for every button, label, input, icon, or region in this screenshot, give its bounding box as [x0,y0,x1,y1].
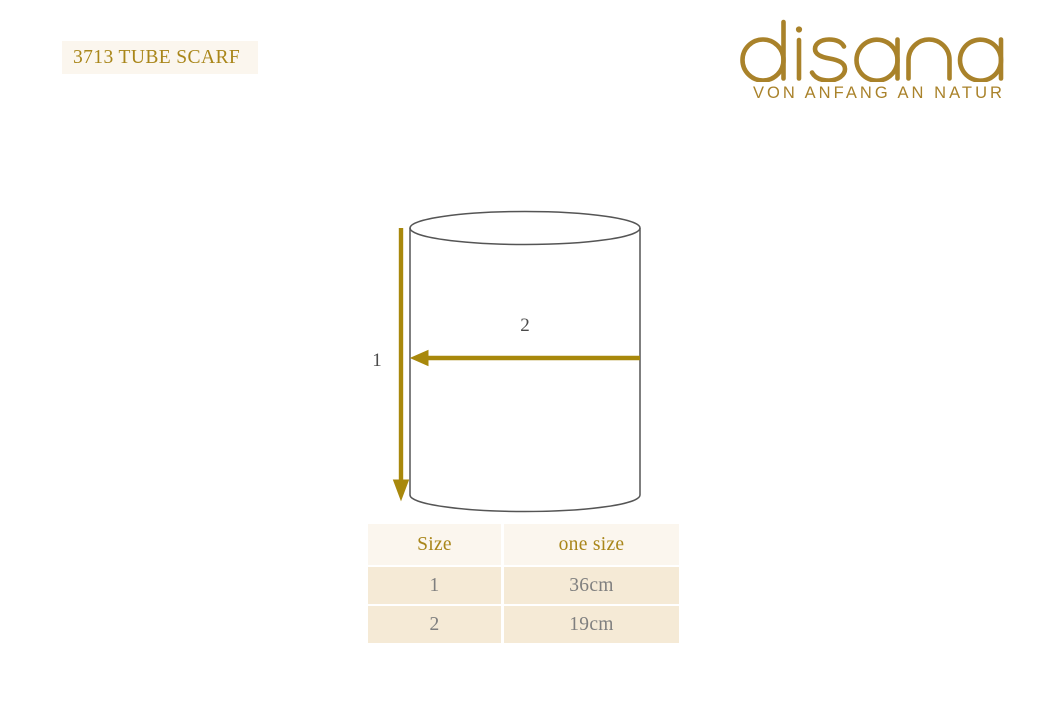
brand-logo: VON ANFANG AN NATUR [735,16,1020,103]
size-table: Size one size 1 36cm 2 19cm [365,522,682,645]
size-table-body: 1 36cm 2 19cm [368,567,679,643]
disana-wordmark-icon [735,16,1020,82]
table-header-row: Size one size [368,524,679,565]
cell-size: 2 [368,606,501,643]
size-table-head: Size one size [368,524,679,565]
dimension-arrow-2 [411,351,640,366]
cell-size: 1 [368,567,501,604]
dimension-arrow-1 [394,228,409,500]
letter-i-dot-icon [796,26,802,32]
table-row: 2 19cm [368,606,679,643]
product-title-badge: 3713 TUBE SCARF [62,41,258,74]
column-header-value: one size [504,524,679,565]
brand-tagline: VON ANFANG AN NATUR [735,84,1020,103]
dimension-label-1: 1 [372,350,382,371]
cell-value: 19cm [504,606,679,643]
table-row: 1 36cm [368,567,679,604]
cell-value: 36cm [504,567,679,604]
tube-scarf-cylinder-icon: 1 2 [355,195,685,525]
page-title: 3713 TUBE SCARF [62,47,240,69]
dimension-label-2: 2 [520,315,530,336]
column-header-size: Size [368,524,501,565]
garment-diagram: 1 2 [355,195,685,525]
